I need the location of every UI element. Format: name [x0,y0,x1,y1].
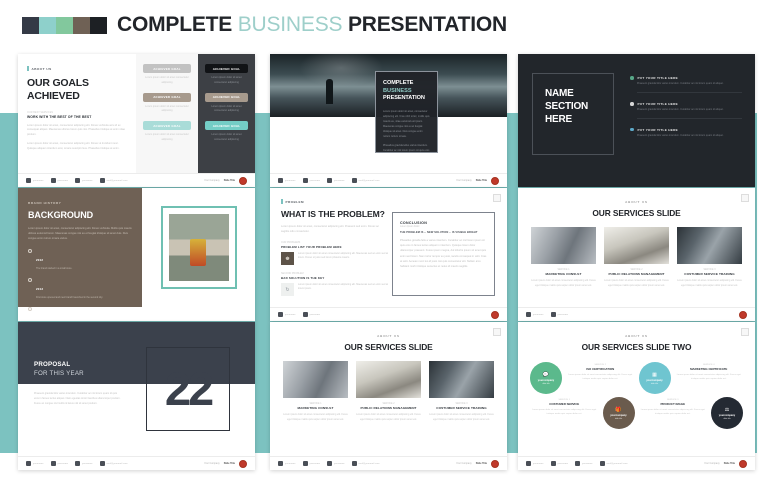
service-label: SERVICE 2 [356,403,421,405]
refresh-icon: ↻ [281,283,294,296]
footer-credit-prefix: Your Company [204,179,220,182]
list-item-text: Praesent gravida felis varius interdum. … [630,82,742,87]
goals-paragraph-2: Lorem ipsum dolor sit amet, consectetur … [27,142,127,152]
goals-text-panel: ABOUT US OUR GOALS ACHIEVED OUR BEST SER… [18,54,136,173]
social-twitter[interactable]: yourname [526,312,544,317]
conclusion-subtitle: Lorem Ipsum Dolor [400,226,487,228]
achieved-goal-pill[interactable]: ACHIEVED GOAL [143,93,191,102]
service-title: PUBLIC RELATIONS MANAGEMENT [604,272,669,276]
chat-icon: 💬 [543,372,549,378]
bullet-dot-icon [630,128,634,132]
problem-block-2-text: Lorem ipsum dolor sit amet consectetur a… [298,283,389,296]
facebook-icon [303,461,308,466]
problem-block-1-text: Lorem ipsum dolor sit amet consectetur a… [298,252,389,265]
problem-block-2-label: SECOND PROBLEM [281,272,389,275]
page-title: COMPLETE BUSINESS PRESENTATION [117,13,507,37]
problem-block-2-row: ↻ Lorem ipsum dolor sit amet consectetur… [281,283,389,296]
color-palette [22,17,107,34]
service-item[interactable]: ▦ yourcompany slide title SERVICE 4 MARK… [639,362,744,394]
brand-badge-icon [239,460,247,468]
goals-dark-column: ACHIEVED GOAL Lorem ipsum dolor sit amet… [198,54,255,173]
timeline-item[interactable]: 2013 First store opened and new branch l… [28,277,132,300]
proposal-title-line2: FOR THIS YEAR [34,370,84,377]
services-two-grid: 💬 yourcompany slide title SERVICE 2 ISO … [530,362,743,432]
cover-line-1: COMPLETE [383,80,430,88]
timeline-year: 2012 [36,258,43,262]
timeline-dot-icon [28,249,32,253]
linkedin-icon [575,461,580,466]
service-text: Lorem ipsum dolor sit amet consectetur a… [429,413,494,422]
swatch-4 [73,17,90,34]
list-item[interactable]: PUT YOUR TITLE HERE Praesent gravida fel… [630,128,742,139]
linkedin-icon [327,178,332,183]
service-card[interactable]: SERVICE 1 MARKETING CONSULT Lorem ipsum … [531,227,596,288]
bullet-dot-icon [630,76,634,80]
service-title: MARKETING CONSULT [283,406,348,410]
service-label: SERVICE 3 [429,403,494,405]
linkedin-icon [327,461,332,466]
achieved-goal-text: Lorem ipsum dolor sit amet consectetur a… [205,105,248,115]
service-label: SERVICE 3 [677,269,742,271]
social-mail[interactable]: mail@yourmail.com [352,461,380,466]
list-item[interactable]: PUT YOUR TITLE HERE Praesent gravida fel… [630,76,742,93]
linkedin-icon [75,461,80,466]
service-text: Lorem ipsum dolor sit amet consectetur a… [566,373,635,381]
timeline-dot-icon [28,278,32,282]
timeline-item[interactable]: 2014 Lorem ipsum dolor sit amet consecte… [28,306,132,321]
timeline-dot-icon [28,307,32,311]
achieved-goal-text: Lorem ipsum dolor sit amet consectetur a… [205,76,248,86]
service-circle: 💬 yourcompany slide title [530,362,562,394]
image-frame [161,206,237,289]
achieved-goal-text: Lorem ipsum dolor sit amet consectetur a… [143,76,191,86]
service-title: PUBLIC RELATIONS MANAGEMENT [356,406,421,410]
footer-credit-brand: Slide Title [224,462,235,465]
mail-icon [352,178,357,183]
social-facebook[interactable]: yourname [551,461,569,466]
accent-bar-icon [281,199,283,204]
footer-credit [491,311,499,319]
problem-block-1-row: ♚ Lorem ipsum dolor sit amet consectetur… [281,252,389,265]
title-word-presentation: PRESENTATION [348,13,507,36]
slide-number-box [493,328,501,336]
timeline-item[interactable]: 2012 The brand started in a small store. [28,248,132,271]
footer-credit: Your Company Slide Title [704,460,747,468]
goals-heading-line2: ACHIEVED [27,90,127,103]
slide-footer: yourname yourname [270,307,507,321]
footer-credit-brand: Slide Title [224,179,235,182]
social-facebook[interactable]: yourname [51,461,69,466]
facebook-icon [551,312,556,317]
cover-paragraph-1: Lorem ipsum dolor sit amet, consectetur … [383,110,430,139]
social-facebook[interactable]: yourname [303,178,321,183]
background-text-panel: BRAND HISTORY BACKGROUND Lorem ipsum dol… [18,188,142,307]
service-photo [531,227,596,264]
name-line-1: NAME [545,88,614,101]
service-text: Lorem ipsum dolor sit amet consectetur a… [677,279,742,288]
achieved-goal-pill[interactable]: ACHIEVED GOAL [205,64,248,73]
cover-title-box: COMPLETE BUSINESS PRESENTATION Lorem ips… [375,71,438,153]
twitter-icon [26,461,31,466]
social-links: yourname yourname yourname mail@yourmail… [526,461,628,466]
timeline-desc: The brand started in a small store. [36,267,72,271]
brand-badge-icon [491,460,499,468]
conclusion-bold-line: THE PROBLEM IS -- NEW SOLUTION -- IS VIS… [400,231,487,234]
social-twitter[interactable]: yourname [278,461,296,466]
social-links: yourname yourname yourname mail@yourmail… [26,178,128,183]
proposal-text: Praesent gravida felis varius interdum. … [34,384,122,406]
name-line-3: HERE [545,114,614,127]
slide-footer: yourname yourname yourname mail@yourmail… [270,456,507,470]
window-icon: ▦ [652,372,657,378]
service-text-block: SERVICE 2 ISO CERTIFICATION Lorem ipsum … [566,362,635,394]
service-text-block: SERVICE 3 PRODUCT IMAGE Lorem ipsum dolo… [639,397,708,429]
service-text: Lorem ipsum dolor sit amet consectetur a… [283,413,348,422]
social-links: yourname yourname [278,312,320,317]
social-linkedin[interactable]: yourname [575,461,593,466]
goals-paragraph-1: Lorem ipsum dolor sit amet, consectetur … [27,124,127,138]
slide-services-one[interactable]: ABOUT US OUR SERVICES SLIDE SERVICE 1 MA… [518,188,755,321]
achieved-goal-pill[interactable]: ACHIEVED GOAL [205,121,248,130]
services-two-row: 💬 yourcompany slide title SERVICE 2 ISO … [530,362,743,394]
twitter-icon [526,461,531,466]
footer-credit-brand: Slide Title [476,179,487,182]
service-card[interactable]: SERVICE 2 PUBLIC RELATIONS MANAGEMENT Lo… [604,227,669,288]
name-line-2: SECTION [545,101,614,114]
badge-icon: ⚖ [725,407,729,413]
social-twitter[interactable]: yourname [278,178,296,183]
service-text-block: SERVICE 1 COSTUMER SERVICE Lorem ipsum d… [530,397,599,429]
timeline-year: 2014 [36,316,43,320]
cover-line-3: PRESENTATION [383,95,430,103]
social-twitter[interactable]: yourname [26,461,44,466]
achieved-goal-pill[interactable]: ACHIEVED GOAL [205,93,248,102]
social-facebook[interactable]: yourname [51,178,69,183]
social-linkedin[interactable]: yourname [75,461,93,466]
service-text-block: SERVICE 4 MARKETING CERTIFICATE Lorem ip… [675,362,744,394]
service-photo [677,227,742,264]
swatch-1 [22,17,39,34]
slide-services-two[interactable]: ABOUT US OUR SERVICES SLIDE TWO 💬 yourco… [518,322,755,470]
services-two-eyebrow: ABOUT US [518,334,755,338]
services-heading: OUR SERVICES SLIDE [270,342,507,352]
service-photo [429,361,494,398]
social-linkedin[interactable]: yourname [327,461,345,466]
service-photo [604,227,669,264]
slide-title-cover[interactable]: COMPLETE BUSINESS PRESENTATION Lorem ips… [270,54,507,187]
background-eyebrow: BRAND HISTORY [28,201,132,205]
service-title: COSTUMER SERVICE TRAINING [677,272,742,276]
service-photo [283,361,348,398]
services-heading: OUR SERVICES SLIDE [518,208,755,218]
slide-name-section[interactable]: NAME SECTION HERE PUT YOUR TITLE HERE Pr… [518,54,755,187]
proposal-number-frame: 22 [146,347,230,431]
social-twitter[interactable]: yourname [26,178,44,183]
list-item-header: PUT YOUR TITLE HERE [630,102,742,106]
service-label: SERVICE 1 [531,269,596,271]
footer-credit-prefix: Your Company [204,462,220,465]
divider [637,92,742,93]
service-photo [356,361,421,398]
service-label: SERVICE 4 [675,364,744,366]
services-two-row: SERVICE 1 COSTUMER SERVICE Lorem ipsum d… [530,397,743,429]
goals-body: Lorem ipsum dolor sit amet, consectetur … [27,124,127,152]
brand-badge-icon [739,460,747,468]
name-section-heading: NAME SECTION HERE [532,88,614,126]
list-item-title: PUT YOUR TITLE HERE [638,102,679,106]
slide-footer: yourname yourname yourname mail@yourmail… [18,173,255,187]
service-item[interactable]: 💬 yourcompany slide title SERVICE 2 ISO … [530,362,635,394]
achieved-goal-text: Lorem ipsum dolor sit amet consectetur a… [205,133,248,143]
list-item-text: Praesent gravida felis varius interdum. … [630,134,742,139]
social-links: yourname yourname [526,312,568,317]
divider [637,118,742,119]
list-item-header: PUT YOUR TITLE HERE [630,128,742,132]
service-label: SERVICE 2 [604,269,669,271]
service-text: Lorem ipsum dolor sit amet consectetur a… [675,373,744,381]
proposal-title-line1: PROPOSAL [34,361,84,368]
slide-footer: yourname yourname yourname mail@yourmail… [270,173,507,187]
social-twitter[interactable]: yourname [278,312,296,317]
background-intro: Lorem ipsum dolor sit amet, consectetur … [28,226,132,241]
footer-credit [739,311,747,319]
slide-problem[interactable]: PROBLEM WHAT IS THE PROBLEM? Lorem ipsum… [270,188,507,321]
service-title: COSTUMER SERVICE TRAINING [429,406,494,410]
footer-credit: Your Company Slide Title [456,177,499,185]
slide-number-box [741,328,749,336]
service-text: Lorem ipsum dolor sit amet consectetur a… [639,408,708,416]
list-item-text: Praesent gravida felis varius interdum. … [630,108,742,113]
footer-credit-prefix: Your Company [456,462,472,465]
title-word-business: BUSINESS [238,13,343,36]
service-title: MARKETING CONSULT [531,272,596,276]
facebook-icon [51,178,56,183]
footer-credit-brand: Slide Title [724,462,735,465]
slide-footer: yourname yourname [518,307,755,321]
slide-grid: ABOUT US OUR GOALS ACHIEVED OUR BEST SER… [0,50,768,470]
problem-block-1: OUR PROBLEMS PROBLEM LIST YOUR PROBLEM H… [281,241,389,265]
service-text: Lorem ipsum dolor sit amet consectetur a… [356,413,421,422]
timeline-desc: First store opened and new branch launch… [36,296,103,300]
footer-credit-prefix: Your Company [456,179,472,182]
achieved-goal-text: Lorem ipsum dolor sit amet consectetur a… [143,133,191,143]
facebook-icon [551,461,556,466]
social-linkedin[interactable]: yourname [75,178,93,183]
service-text: Lorem ipsum dolor sit amet consectetur a… [604,279,669,288]
service-circle: ⚖ yourcompany slide title [711,397,743,429]
footer-credit-brand: Slide Title [476,462,487,465]
linkedin-icon [75,178,80,183]
services-two-heading: OUR SERVICES SLIDE TWO [518,342,755,352]
service-card[interactable]: SERVICE 3 COSTUMER SERVICE TRAINING Lore… [429,361,494,422]
goals-eyebrow: ABOUT US [27,66,127,71]
swatch-3 [56,17,73,34]
cover-line-2: BUSINESS [383,88,430,96]
goals-sub-label: OUR BEST SERVICES [27,111,127,114]
background-heading: BACKGROUND [28,210,132,220]
achieved-goal-text: Lorem ipsum dolor sit amet consectetur a… [143,105,191,115]
slide-footer: yourname yourname yourname mail@yourmail… [518,456,755,470]
footer-credit: Your Company Slide Title [204,177,247,185]
title-word-complete: COMPLETE [117,13,232,36]
trophy-icon: ♚ [281,252,294,265]
bullet-dot-icon [630,102,634,106]
service-label: SERVICE 1 [283,403,348,405]
achieved-goal-pill[interactable]: ACHIEVED GOAL [143,121,191,130]
gift-icon: 🎁 [615,407,621,413]
twitter-icon [278,461,283,466]
social-links: yourname yourname yourname mail@yourmail… [278,461,380,466]
problem-block-2-title: BAD SOLUTION IS THE KEY [281,276,389,280]
problem-block-2: SECOND PROBLEM BAD SOLUTION IS THE KEY ↻… [281,272,389,296]
slide-background-history[interactable]: BRAND HISTORY BACKGROUND Lorem ipsum dol… [18,188,255,321]
list-item-title: PUT YOUR TITLE HERE [638,128,679,132]
mail-icon [100,461,105,466]
service-text: Lorem ipsum dolor sit amet consectetur a… [530,408,599,416]
list-item-header: PUT YOUR TITLE HERE [630,76,742,80]
goals-heading: OUR GOALS ACHIEVED [27,77,127,103]
services-cards: SERVICE 1 MARKETING CONSULT Lorem ipsum … [518,227,755,288]
social-links: yourname yourname yourname mail@yourmail… [26,461,128,466]
conclusion-text: Phasellus gravida felis a varius interdu… [400,238,487,269]
social-mail[interactable]: mail@yourmail.com [100,461,128,466]
achieved-goal-pill[interactable]: ACHIEVED GOAL [143,64,191,73]
brand-badge-icon [491,311,499,319]
list-item-title: PUT YOUR TITLE HERE [638,76,679,80]
twitter-icon [526,312,531,317]
name-section-list: PUT YOUR TITLE HERE Praesent gravida fel… [630,76,742,147]
social-facebook[interactable]: yourname [303,461,321,466]
facebook-icon [51,461,56,466]
conclusion-title: CONCLUSION [400,221,487,225]
service-card[interactable]: SERVICE 1 MARKETING CONSULT Lorem ipsum … [283,361,348,422]
social-facebook[interactable]: yourname [303,312,321,317]
footer-credit: Your Company Slide Title [456,460,499,468]
goals-eyebrow-label: ABOUT US [32,67,52,71]
timeline-year: 2013 [36,287,43,291]
mail-icon [600,461,605,466]
twitter-icon [278,178,283,183]
service-item[interactable]: SERVICE 3 PRODUCT IMAGE Lorem ipsum dolo… [639,397,744,429]
service-label: SERVICE 3 [639,399,708,401]
list-item[interactable]: PUT YOUR TITLE HERE Praesent gravida fel… [630,102,742,119]
service-card[interactable]: SERVICE 3 COSTUMER SERVICE TRAINING Lore… [677,227,742,288]
cover-paragraph-2: Phasellus gravida tellus varius interdum… [383,144,430,153]
conclusion-box: CONCLUSION Lorem Ipsum Dolor THE PROBLEM… [392,212,495,296]
problem-block-1-label: OUR PROBLEMS [281,241,389,244]
social-facebook[interactable]: yourname [551,312,569,317]
proposal-big-number: 22 [165,370,211,409]
accent-bar-icon [27,66,29,71]
facebook-icon [303,178,308,183]
swatch-2 [39,17,56,34]
service-title: PRODUCT IMAGE [639,402,708,406]
market-photo [169,214,229,281]
twitter-icon [26,178,31,183]
service-text: Lorem ipsum dolor sit amet consectetur a… [531,279,596,288]
slide-goals-achieved[interactable]: ABOUT US OUR GOALS ACHIEVED OUR BEST SER… [18,54,255,187]
proposal-heading: PROPOSAL FOR THIS YEAR [34,361,84,377]
problem-intro: Lorem ipsum dolor sit amet, consectetur … [281,224,381,234]
goals-subtitle: WORK WITH THE BEST OF THE BEST [27,115,127,119]
service-title: MARKETING CERTIFICATE [675,367,744,371]
social-mail[interactable]: mail@yourmail.com [100,178,128,183]
services-eyebrow: ABOUT US [270,334,507,338]
goals-light-column: ACHIEVED GOAL Lorem ipsum dolor sit amet… [136,54,198,173]
mail-icon [100,178,105,183]
social-twitter[interactable]: yourname [526,461,544,466]
footer-credit-prefix: Your Company [704,462,720,465]
swatch-5 [90,17,107,34]
service-label: SERVICE 2 [566,364,635,366]
slide-footer: yourname yourname yourname mail@yourmail… [18,456,255,470]
brand-badge-icon [239,177,247,185]
brand-badge-icon [739,311,747,319]
problem-eyebrow-label: PROBLEM [286,200,305,204]
slide-number-box [741,194,749,202]
slide-services-one-b[interactable]: ABOUT US OUR SERVICES SLIDE SERVICE 1 MA… [270,322,507,470]
social-mail[interactable]: mail@yourmail.com [352,178,380,183]
social-links: yourname yourname yourname mail@yourmail… [278,178,380,183]
service-circle: ▦ yourcompany slide title [639,362,671,394]
service-item[interactable]: SERVICE 1 COSTUMER SERVICE Lorem ipsum d… [530,397,635,429]
twitter-icon [278,312,283,317]
footer-credit: Your Company Slide Title [204,460,247,468]
history-timeline: 2012 The brand started in a small store.… [28,248,132,321]
problem-eyebrow: PROBLEM [281,199,496,204]
mail-icon [352,461,357,466]
facebook-icon [303,312,308,317]
service-label: SERVICE 1 [530,399,599,401]
service-card[interactable]: SERVICE 2 PUBLIC RELATIONS MANAGEMENT Lo… [356,361,421,422]
goals-heading-line1: OUR GOALS [27,77,127,90]
service-circle: 🎁 yourcompany slide title [603,397,635,429]
service-title: COSTUMER SERVICE [530,402,599,406]
slide-proposal[interactable]: PROPOSAL FOR THIS YEAR Praesent gravida … [18,322,255,470]
problem-block-1-title: PROBLEM LIST YOUR PROBLEM HERE [281,245,389,249]
social-linkedin[interactable]: yourname [327,178,345,183]
slide-number-box [493,194,501,202]
service-title: ISO CERTIFICATION [566,367,635,371]
services-cards: SERVICE 1 MARKETING CONSULT Lorem ipsum … [270,361,507,422]
services-eyebrow: ABOUT US [518,200,755,204]
brand-badge-icon [491,177,499,185]
background-image-panel [142,188,255,307]
page-header: COMPLETE BUSINESS PRESENTATION [0,0,768,50]
social-mail[interactable]: mail@yourmail.com [600,461,628,466]
